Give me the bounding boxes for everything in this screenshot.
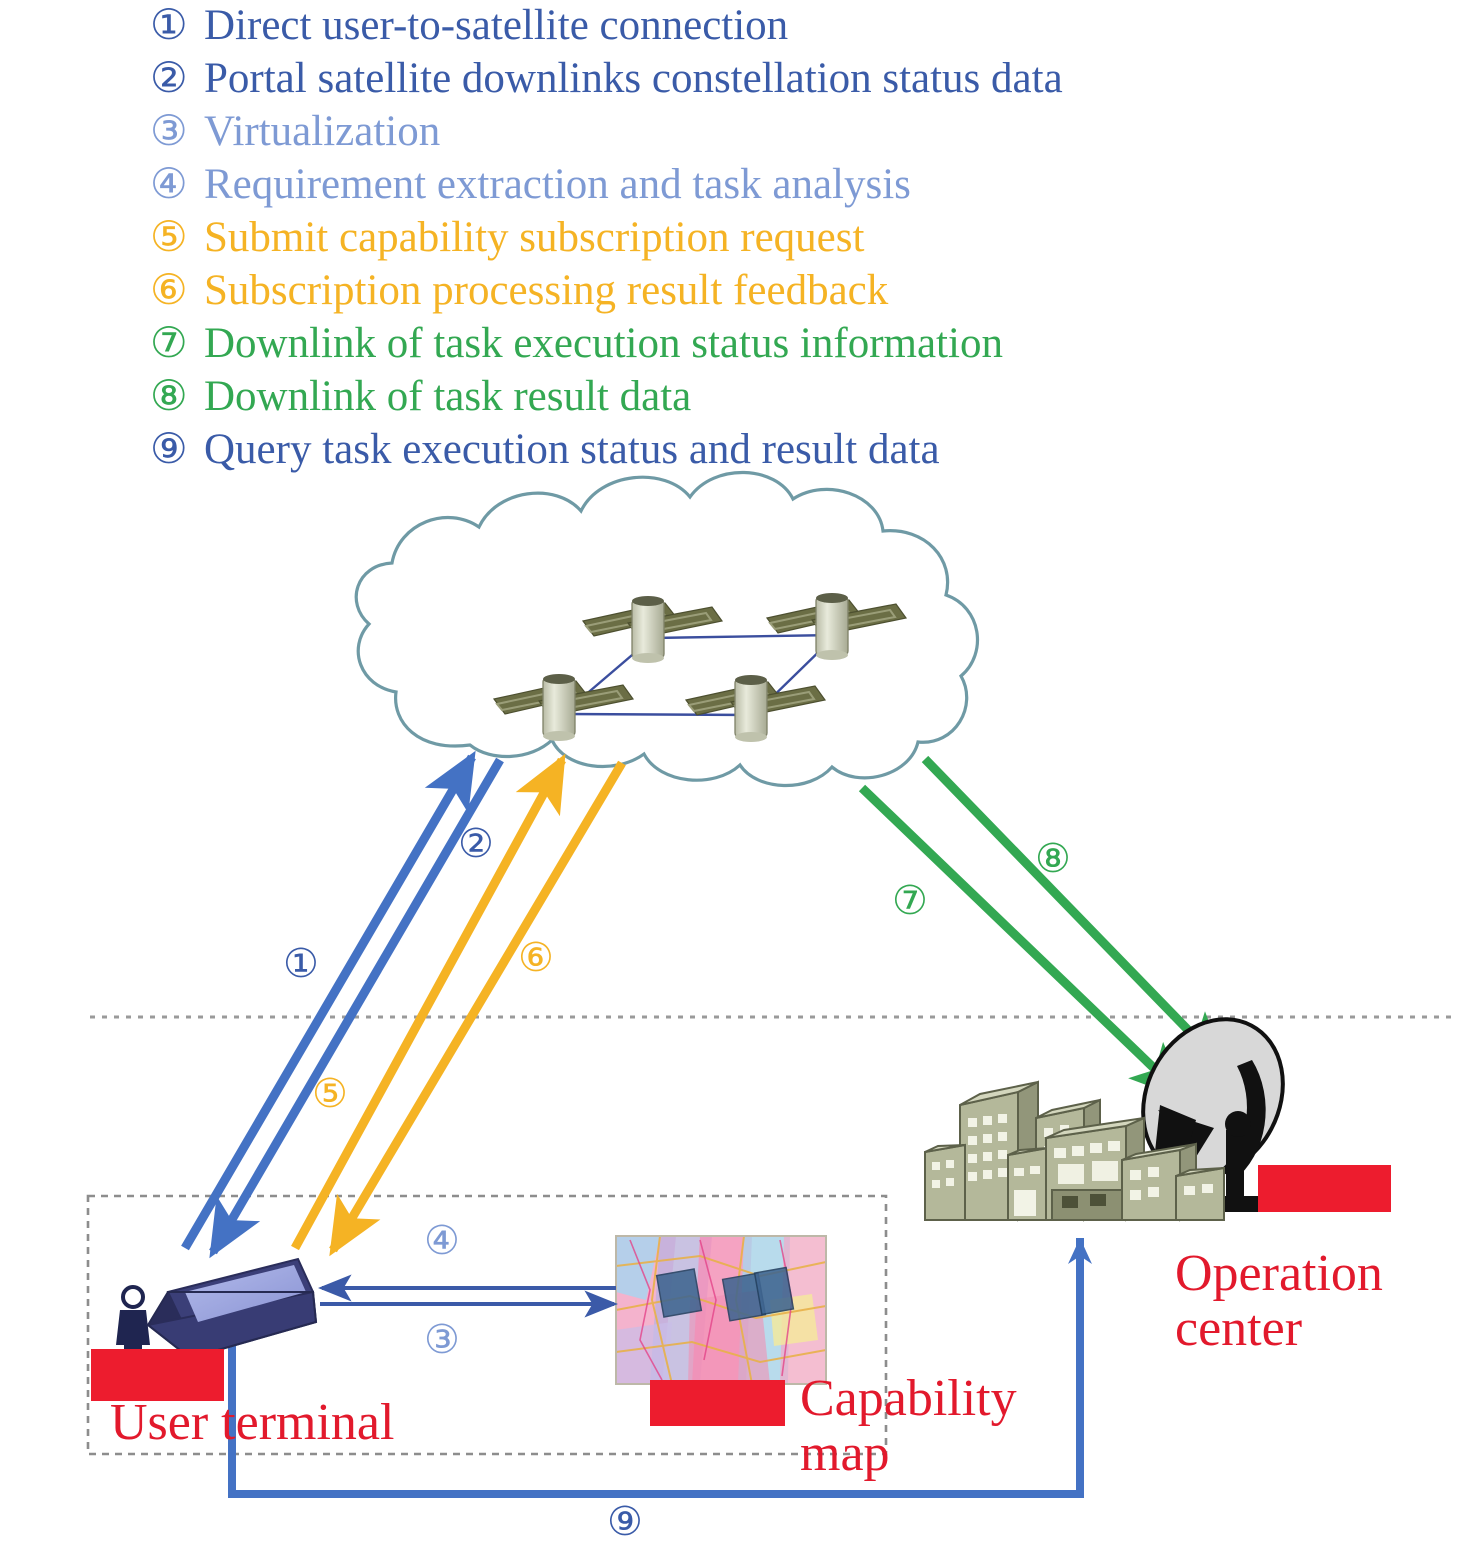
operation-center-label: Operation center [1175, 1247, 1383, 1356]
capability-map[interactable] [616, 1236, 826, 1384]
terminal-device-icon [148, 1259, 316, 1358]
step-marker-4: ④ [424, 1221, 460, 1261]
arrow-2-downlink[interactable] [213, 760, 500, 1252]
step-marker-3: ③ [424, 1320, 460, 1360]
step-marker-1: ① [283, 944, 319, 984]
arrow-7-status-downlink[interactable] [862, 788, 1182, 1095]
step-marker-8: ⑧ [1035, 839, 1071, 879]
step-marker-5: ⑤ [312, 1074, 348, 1114]
capability-map-redaction-bar [650, 1380, 785, 1426]
step-marker-9: ⑨ [607, 1502, 643, 1542]
operation-center-redaction-bar [1258, 1165, 1391, 1212]
step-marker-7: ⑦ [892, 881, 928, 921]
step-marker-2: ② [458, 824, 494, 864]
arrow-8-result-downlink[interactable] [925, 759, 1222, 1065]
satellite-constellation-cloud[interactable] [356, 472, 977, 785]
user-terminal-label: User terminal [110, 1396, 394, 1451]
capability-map-label: Capability map [800, 1372, 1017, 1481]
step-marker-6: ⑥ [518, 938, 554, 978]
